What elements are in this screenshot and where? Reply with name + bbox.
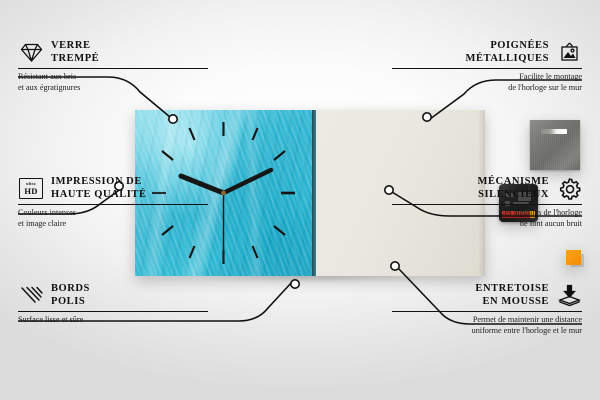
feature-rule bbox=[18, 68, 208, 69]
feature-rule bbox=[18, 204, 208, 205]
ultra-hd-icon: ultra HD bbox=[18, 177, 44, 201]
feature-poignees-metalliques: POIGNÉES MÉTALLIQUES Facilite le montage… bbox=[392, 40, 582, 93]
feature-header: VERRE TREMPÉ bbox=[18, 40, 208, 65]
feature-title: IMPRESSION DE HAUTE QUALITÉ bbox=[51, 176, 147, 201]
diamond-icon bbox=[18, 41, 44, 65]
feature-rule bbox=[392, 311, 582, 312]
feature-desc: Les aiguilles de l'horloge ne font aucun… bbox=[392, 208, 582, 228]
arrow-down-stack-icon bbox=[556, 284, 582, 308]
feature-desc: Surface lisse et sûre bbox=[18, 315, 208, 325]
feature-header: ultra HD IMPRESSION DE HAUTE QUALITÉ bbox=[18, 176, 208, 201]
metal-hanger-part bbox=[530, 120, 580, 170]
feature-rule bbox=[392, 204, 582, 205]
feature-rule bbox=[392, 68, 582, 69]
infographic-stage: VERRE TREMPÉ Résistant aux bris et aux é… bbox=[0, 0, 600, 400]
feature-header: POIGNÉES MÉTALLIQUES bbox=[392, 40, 582, 65]
feature-rule bbox=[18, 311, 208, 312]
feature-entretoise-en-mousse: ENTRETOISE EN MOUSSE Permet de maintenir… bbox=[392, 283, 582, 336]
feature-title: MÉCANISME SILENCIEUX bbox=[478, 176, 549, 201]
feature-mecanisme-silencieux: MÉCANISME SILENCIEUX Les aiguilles de l'… bbox=[392, 176, 582, 229]
hanger-slot bbox=[541, 129, 567, 134]
feature-header: ENTRETOISE EN MOUSSE bbox=[392, 283, 582, 308]
feature-desc: Permet de maintenir une distance uniform… bbox=[392, 315, 582, 335]
ultra-hd-icon-main: HD bbox=[24, 187, 37, 196]
feature-title: POIGNÉES MÉTALLIQUES bbox=[466, 40, 549, 65]
feature-title: ENTRETOISE EN MOUSSE bbox=[475, 283, 549, 308]
feature-header: MÉCANISME SILENCIEUX bbox=[392, 176, 582, 201]
feature-desc: Facilite le montage de l'horloge sur le … bbox=[392, 72, 582, 92]
feature-title: BORDS POLIS bbox=[51, 283, 90, 308]
feature-verre-trempe: VERRE TREMPÉ Résistant aux bris et aux é… bbox=[18, 40, 208, 93]
feature-impression-haute-qualite: ultra HD IMPRESSION DE HAUTE QUALITÉ Cou… bbox=[18, 176, 208, 229]
feature-bords-polis: BORDS POLIS Surface lisse et sûre bbox=[18, 283, 208, 326]
feature-header: BORDS POLIS bbox=[18, 283, 208, 308]
foam-spacer-part bbox=[566, 250, 581, 265]
feature-desc: Couleurs intenses et image claire bbox=[18, 208, 208, 228]
feature-desc: Résistant aux bris et aux égratignures bbox=[18, 72, 208, 92]
feature-title: VERRE TREMPÉ bbox=[51, 40, 99, 65]
diagonal-lines-icon bbox=[18, 284, 44, 308]
hanging-frame-icon bbox=[556, 41, 582, 65]
gear-icon bbox=[556, 177, 582, 201]
